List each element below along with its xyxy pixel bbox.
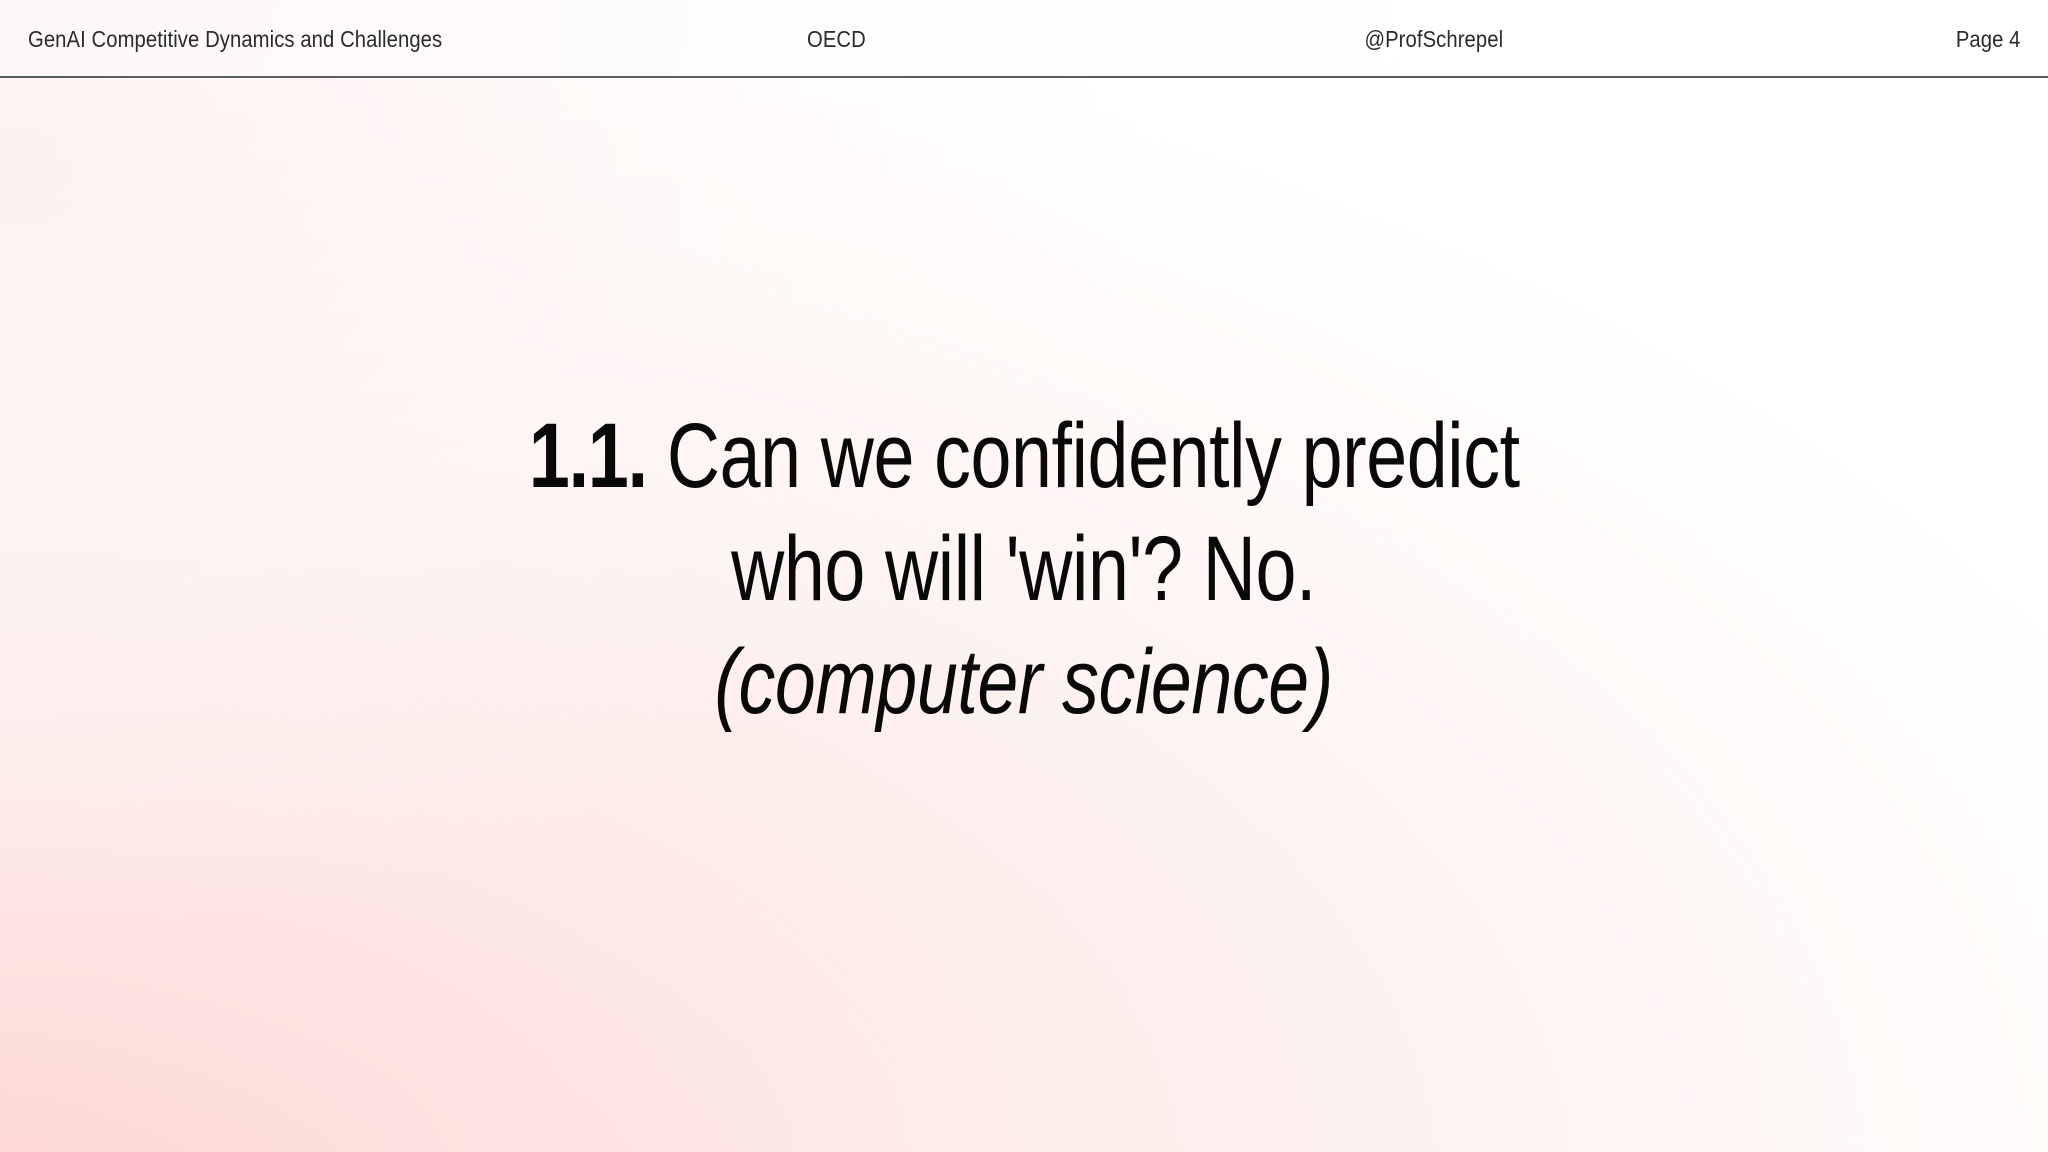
heading-section-number: 1.1. — [529, 405, 647, 507]
heading-line-2: who will 'win'? No. — [0, 513, 2048, 626]
heading-line-2-text: who will 'win'? No. — [732, 513, 1317, 626]
header-divider — [0, 76, 2048, 78]
header-content: GenAI Competitive Dynamics and Challenge… — [0, 0, 2048, 78]
heading-line-3: (computer science) — [0, 626, 2048, 739]
slide-canvas: GenAI Competitive Dynamics and Challenge… — [0, 0, 2048, 1152]
heading-line-1: 1.1. Can we confidently predict — [0, 400, 2048, 513]
heading-line-1-text: Can we confidently predict — [647, 405, 1520, 507]
heading-line-3-text: (computer science) — [715, 626, 1334, 739]
header-venue: OECD — [807, 0, 866, 78]
header-deck-title: GenAI Competitive Dynamics and Challenge… — [28, 0, 442, 78]
header-author-handle: @ProfSchrepel — [1364, 0, 1503, 78]
slide-heading-block: 1.1. Can we confidently predict who will… — [0, 400, 2048, 739]
header-page-label: Page 4 — [1955, 0, 2020, 78]
slide-header: GenAI Competitive Dynamics and Challenge… — [0, 0, 2048, 78]
